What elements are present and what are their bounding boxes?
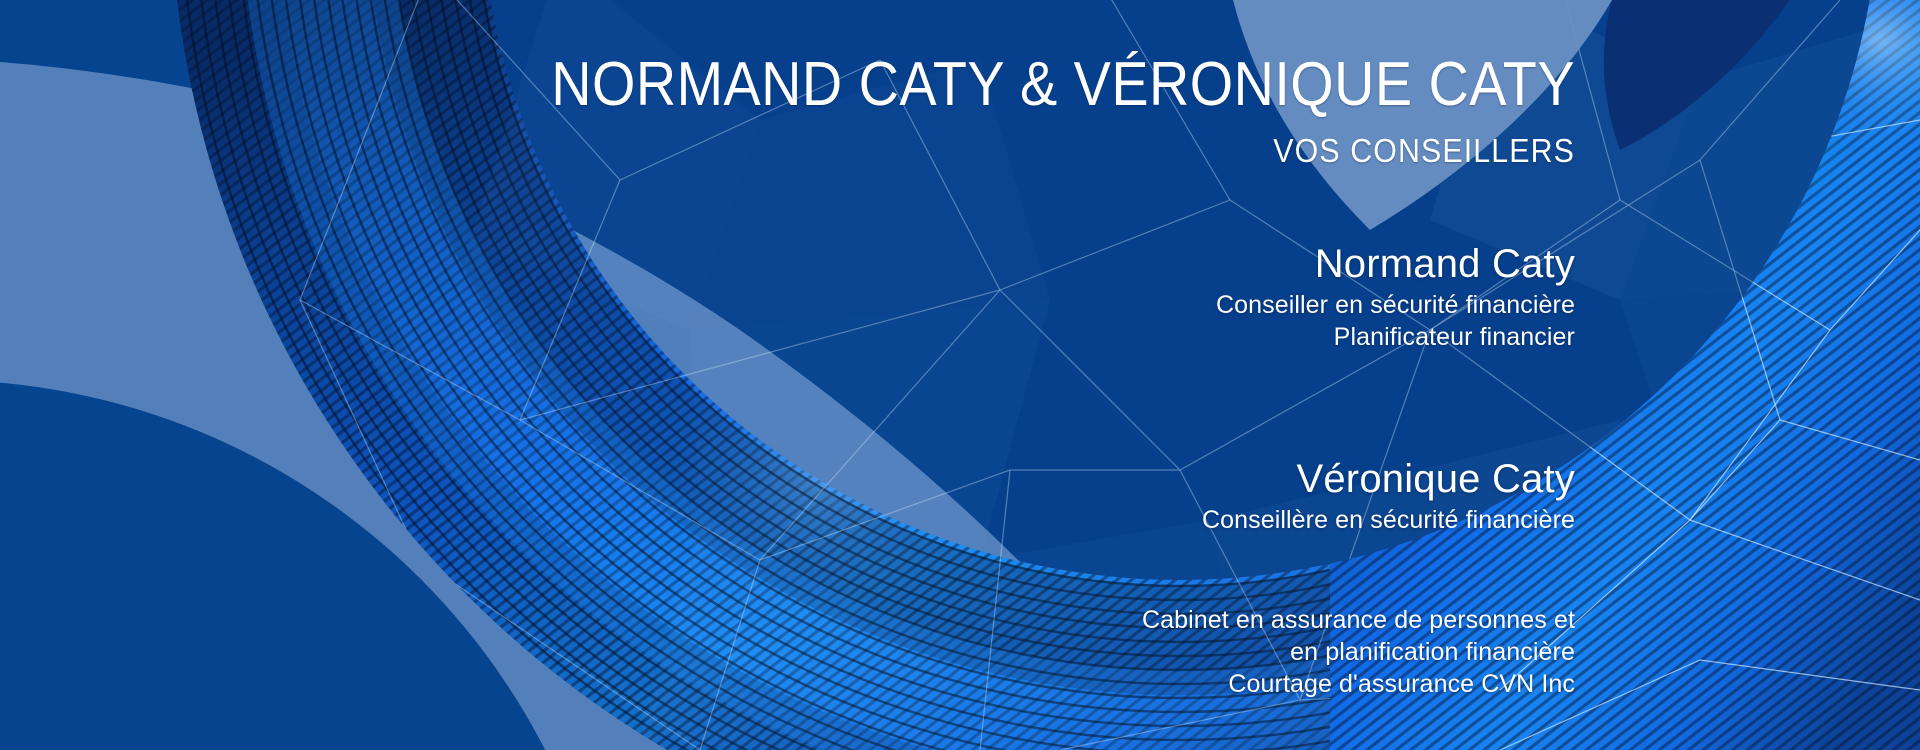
advisor-role: Conseiller en sécurité financière (0, 289, 1575, 321)
page-subtitle: VOS CONSEILLERS (126, 133, 1575, 169)
banner-hero: NORMAND CATY & VÉRONIQUE CATY VOS CONSEI… (0, 0, 1920, 750)
advisor-role: Planificateur financier (0, 321, 1575, 353)
firm-info-block: Cabinet en assurance de personnes et en … (0, 604, 1575, 700)
page-title: NORMAND CATY & VÉRONIQUE CATY (158, 52, 1576, 117)
advisor-name: Normand Caty (0, 240, 1575, 289)
firm-line: en planification financière (0, 636, 1575, 668)
firm-line: Cabinet en assurance de personnes et (0, 604, 1575, 636)
firm-line: Courtage d'assurance CVN Inc (0, 668, 1575, 700)
advisor-role: Conseillère en sécurité financière (0, 504, 1575, 536)
hero-text-block: NORMAND CATY & VÉRONIQUE CATY VOS CONSEI… (0, 0, 1575, 750)
advisor-normand-caty: Normand Caty Conseiller en sécurité fina… (0, 240, 1575, 353)
advisor-veronique-caty: Véronique Caty Conseillère en sécurité f… (0, 455, 1575, 536)
advisor-name: Véronique Caty (0, 455, 1575, 504)
